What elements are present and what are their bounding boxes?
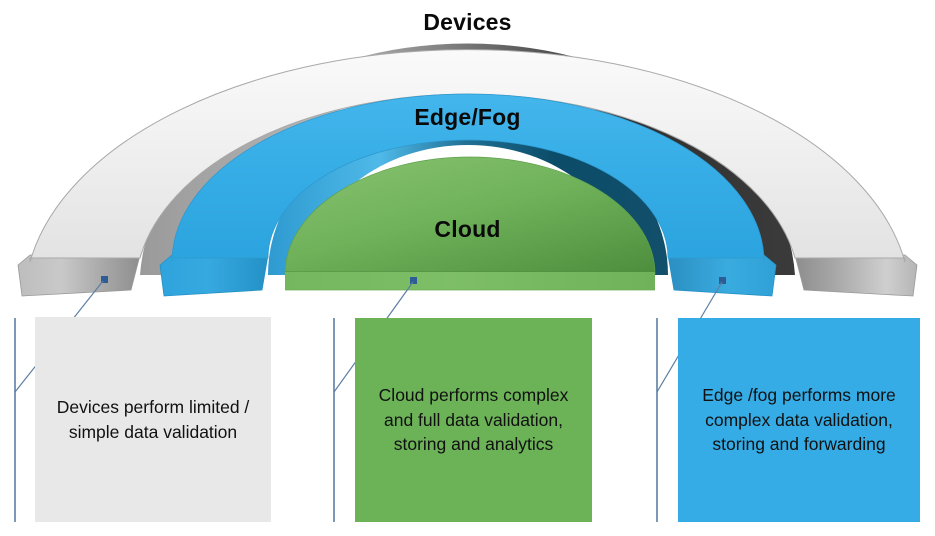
callout-text-edge-fog: Edge /fog performs more complex data val… [688,383,910,458]
arch-label-devices: Devices [0,9,935,36]
diagram-canvas: Devices Edge/Fog Cloud Devices perform l… [0,0,935,536]
callout-box-cloud: Cloud performs complex and full data val… [355,318,592,522]
callout-text-cloud: Cloud performs complex and full data val… [365,383,582,458]
callout-box-devices: Devices perform limited / simple data va… [35,317,271,522]
arch-label-cloud: Cloud [0,216,935,243]
connector-marker-cloud [410,277,417,284]
connector-marker-edge [719,277,726,284]
callout-box-edge-fog: Edge /fog performs more complex data val… [678,318,920,522]
arch-label-edge-fog: Edge/Fog [0,104,935,131]
callout-text-devices: Devices perform limited / simple data va… [45,395,261,445]
